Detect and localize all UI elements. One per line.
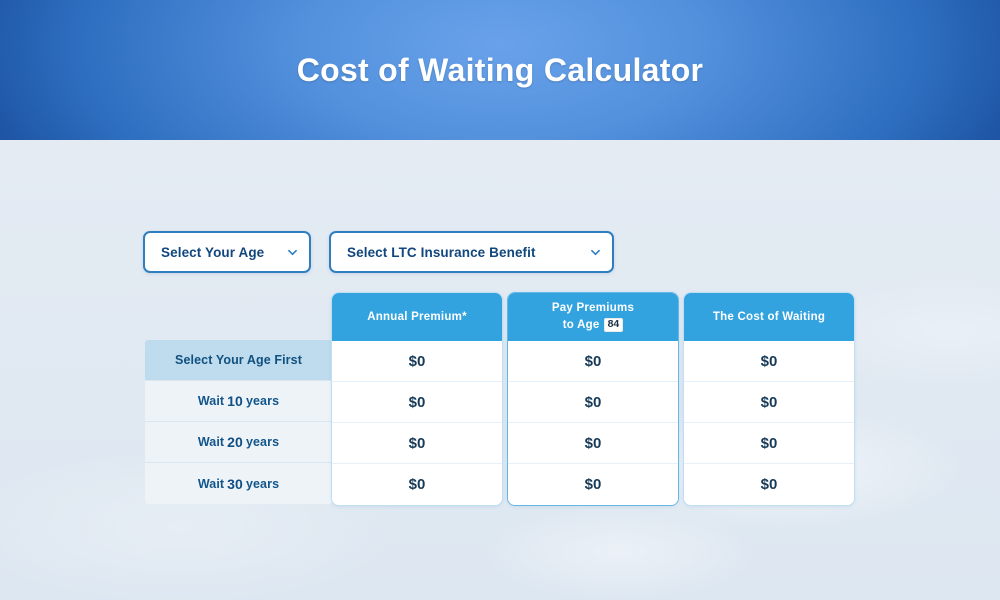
column-pay-premiums-to-age: Pay Premiums to Age 84 $0 $0 $0 $0 [507, 292, 679, 506]
table-cell: $0 [332, 464, 502, 505]
row-label-number: 20 [224, 434, 246, 450]
cost-of-waiting-table: Select Your Age First Wait 10 years Wait… [145, 292, 853, 510]
table-row-label: Select Your Age First [145, 340, 332, 381]
row-label-suffix: years [246, 435, 279, 449]
row-label-number: 10 [224, 393, 246, 409]
column-annual-premium: Annual Premium* $0 $0 $0 $0 [331, 292, 503, 506]
select-your-age-dropdown[interactable]: Select Your Age [143, 231, 311, 273]
column-header-title: Pay Premiums [552, 300, 634, 317]
row-label-text: Select Your Age First [175, 353, 302, 367]
select-ltc-insurance-benefit-dropdown[interactable]: Select LTC Insurance Benefit [329, 231, 614, 273]
table-cell: $0 [508, 464, 678, 505]
column-header: Pay Premiums to Age 84 [508, 293, 678, 341]
table-cell: $0 [332, 423, 502, 464]
table-row-label: Wait 10 years [145, 381, 332, 422]
table-cell: $0 [684, 341, 854, 382]
column-header-title: Annual Premium* [367, 309, 467, 326]
table-cell: $0 [332, 382, 502, 423]
column-the-cost-of-waiting: The Cost of Waiting $0 $0 $0 $0 [683, 292, 855, 506]
column-header-title: The Cost of Waiting [713, 309, 825, 326]
chevron-down-icon[interactable] [591, 248, 600, 257]
chevron-down-icon[interactable] [288, 248, 297, 257]
page-title: Cost of Waiting Calculator [297, 52, 704, 89]
row-label-prefix: Wait [198, 477, 224, 491]
column-header: The Cost of Waiting [684, 293, 854, 341]
pay-to-age-input[interactable]: 84 [604, 318, 624, 332]
table-cell: $0 [508, 341, 678, 382]
row-label-prefix: Wait [198, 394, 224, 408]
table-cell: $0 [684, 423, 854, 464]
table-cell: $0 [508, 423, 678, 464]
column-header-subtitle: to Age [563, 317, 600, 334]
select-your-age-label: Select Your Age [161, 245, 264, 260]
main-content: Select Your Age Select LTC Insurance Ben… [0, 140, 1000, 600]
table-cell: $0 [684, 382, 854, 423]
table-row-label: Wait 20 years [145, 422, 332, 463]
row-label-number: 30 [224, 476, 246, 492]
table-cell: $0 [508, 382, 678, 423]
select-ltc-insurance-benefit-label: Select LTC Insurance Benefit [347, 245, 536, 260]
page-header-banner: Cost of Waiting Calculator [0, 0, 1000, 140]
selector-row: Select Your Age Select LTC Insurance Ben… [143, 231, 614, 273]
table-cell: $0 [332, 341, 502, 382]
column-header: Annual Premium* [332, 293, 502, 341]
row-label-suffix: years [246, 477, 279, 491]
row-label-suffix: years [246, 394, 279, 408]
row-label-prefix: Wait [198, 435, 224, 449]
table-cell: $0 [684, 464, 854, 505]
table-row-label: Wait 30 years [145, 463, 332, 504]
row-label-column: Select Your Age First Wait 10 years Wait… [145, 340, 332, 504]
